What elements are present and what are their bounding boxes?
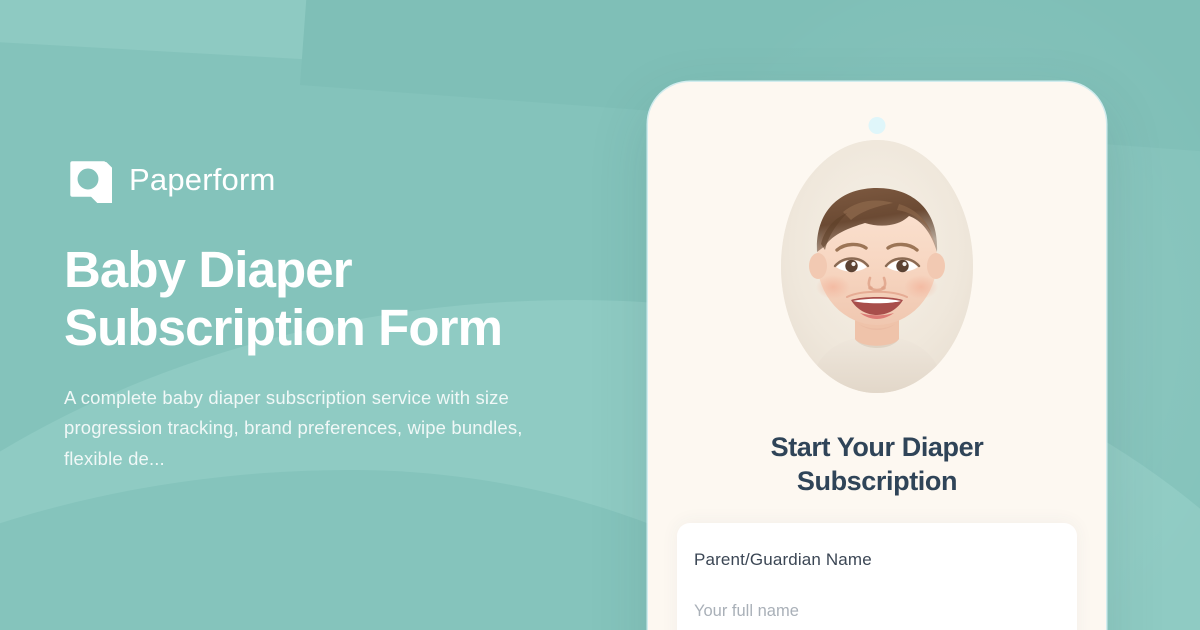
paperform-star-logo-icon	[64, 155, 112, 203]
page-description: A complete baby diaper subscription serv…	[64, 383, 569, 475]
baby-photo	[781, 140, 973, 393]
parent-guardian-name-input[interactable]	[694, 602, 1060, 630]
hero-panel: Paperform Baby Diaper Subscription Form …	[64, 0, 624, 630]
form-preview-card: Start Your Diaper Subscription Parent/Gu…	[648, 82, 1106, 630]
card-accent-dot-icon	[869, 117, 886, 134]
form-field-group: Parent/Guardian Name	[677, 523, 1077, 630]
form-heading: Start Your Diaper Subscription	[688, 430, 1066, 498]
field-label-parent-guardian-name: Parent/Guardian Name	[694, 550, 1060, 570]
page-title: Baby Diaper Subscription Form	[64, 241, 534, 356]
brand-name: Paperform	[129, 164, 276, 195]
brand-lockup[interactable]: Paperform	[64, 155, 624, 203]
share-preview-card: Paperform Baby Diaper Subscription Form …	[0, 0, 1200, 630]
